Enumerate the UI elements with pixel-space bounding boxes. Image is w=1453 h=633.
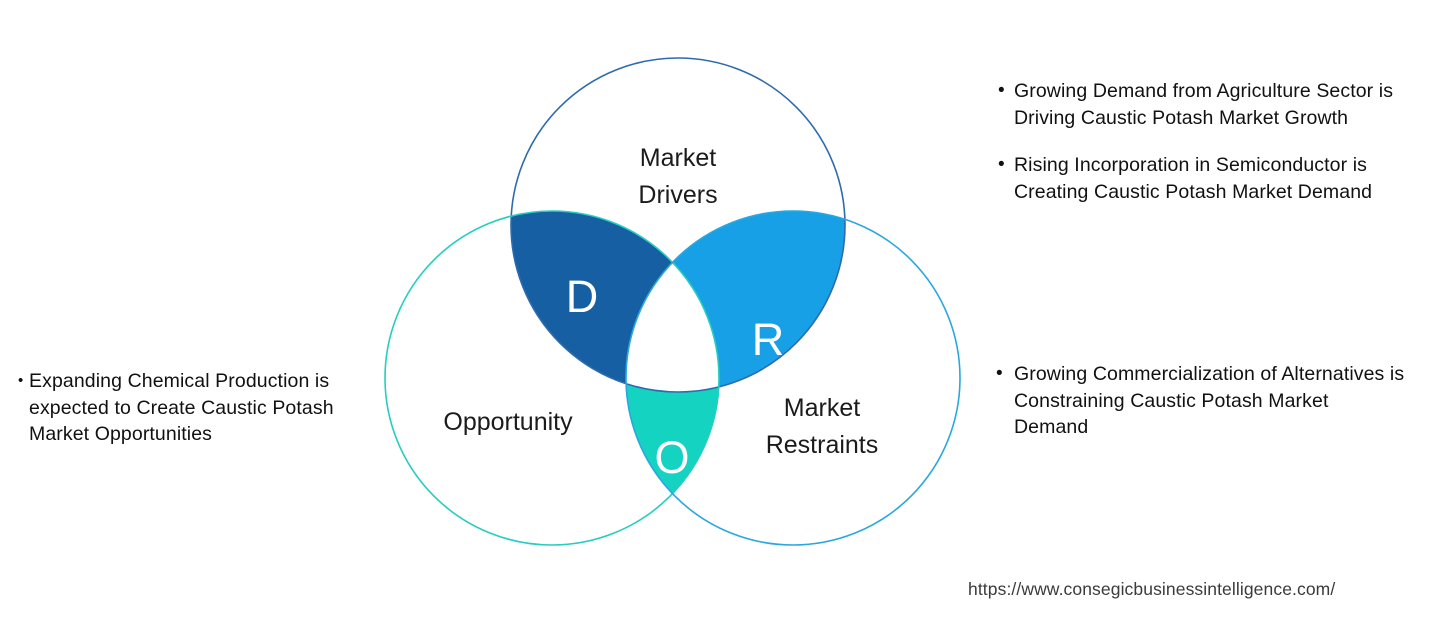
bullet-list-drivers: • Growing Demand from Agriculture Sector…: [998, 78, 1398, 226]
label-market-restraints-line1: Market: [784, 394, 860, 422]
list-item: • Expanding Chemical Production is expec…: [18, 368, 378, 448]
label-market-drivers-line2: Drivers: [638, 181, 717, 209]
bullet-text-drivers-1: Growing Demand from Agriculture Sector i…: [1014, 78, 1398, 131]
bullet-dot-icon: •: [998, 152, 1014, 178]
bullet-text-opportunity-1: Expanding Chemical Production is expecte…: [29, 368, 378, 448]
list-item: • Growing Commercialization of Alternati…: [996, 361, 1408, 441]
bullet-text-drivers-2: Rising Incorporation in Semiconductor is…: [1014, 152, 1398, 205]
bullet-dot-icon: •: [998, 78, 1014, 104]
lens-letter-o: O: [654, 432, 689, 483]
bullet-dot-icon: •: [996, 361, 1014, 387]
bullet-dot-icon: •: [18, 368, 29, 394]
label-market-restraints-line2: Restraints: [766, 431, 879, 459]
venn-svg: Market Drivers Opportunity Market Restra…: [370, 40, 980, 585]
label-opportunity: Opportunity: [443, 408, 573, 436]
label-market-drivers-line1: Market: [640, 144, 716, 172]
source-url[interactable]: https://www.consegicbusinessintelligence…: [968, 578, 1335, 600]
list-item: • Growing Demand from Agriculture Sector…: [998, 78, 1398, 131]
bullet-text-restraints-1: Growing Commercialization of Alternative…: [1014, 361, 1408, 441]
venn-diagram-page: Market Drivers Opportunity Market Restra…: [0, 0, 1453, 633]
lens-letter-r: R: [752, 314, 785, 365]
bullet-list-opportunity: • Expanding Chemical Production is expec…: [18, 368, 378, 448]
lens-letter-d: D: [566, 271, 599, 322]
list-item: • Rising Incorporation in Semiconductor …: [998, 152, 1398, 205]
venn-diagram: Market Drivers Opportunity Market Restra…: [370, 40, 980, 585]
bullet-list-restraints: • Growing Commercialization of Alternati…: [996, 361, 1408, 441]
